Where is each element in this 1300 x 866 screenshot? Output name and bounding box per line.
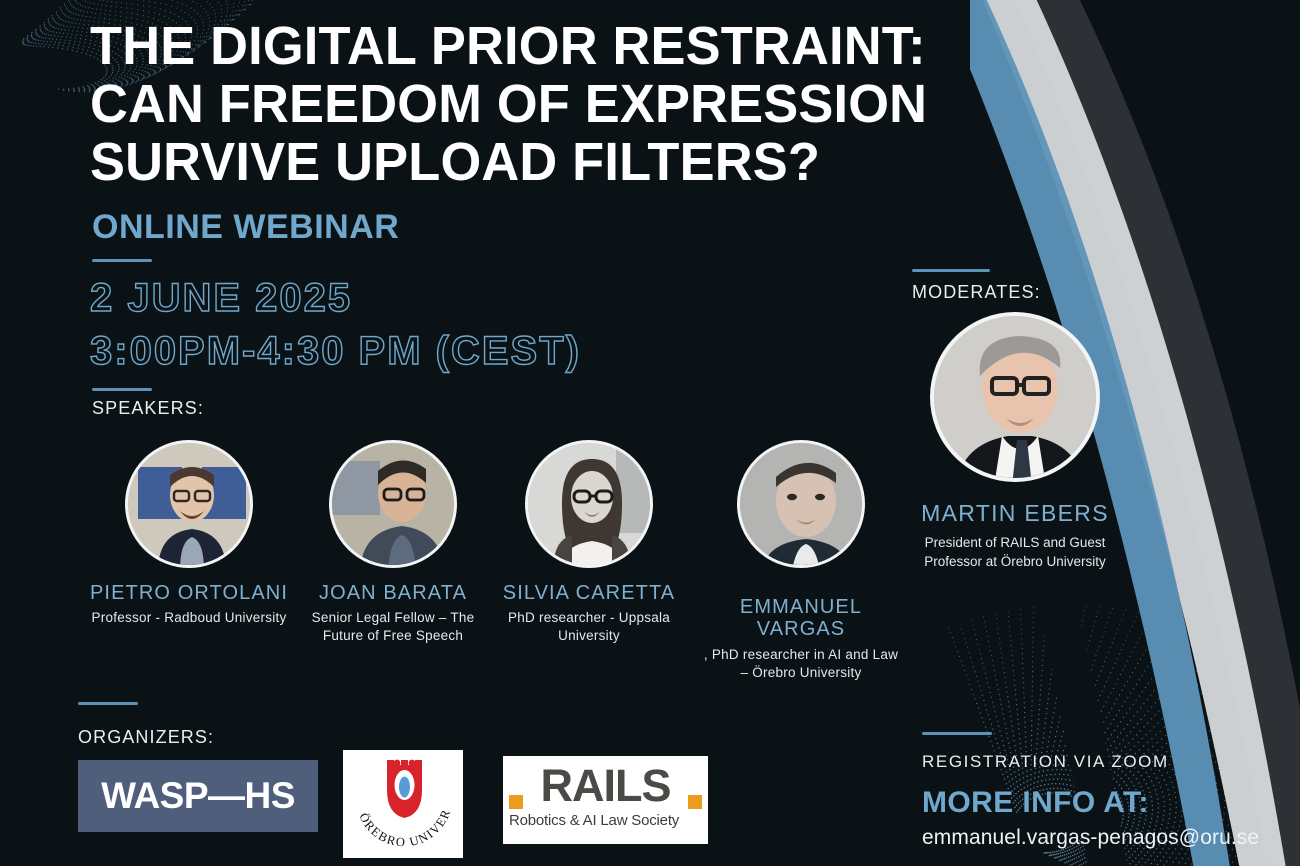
moderates-label: MODERATES:	[912, 282, 1041, 303]
divider-speakers	[92, 388, 152, 391]
divider-subtitle	[92, 259, 152, 262]
speaker-card: PIETRO ORTOLANI Professor - Radboud Univ…	[86, 440, 292, 627]
title-line-2: CAN FREEDOM OF EXPRESSION	[90, 76, 1060, 134]
avatar	[737, 440, 865, 568]
speakers-label: SPEAKERS:	[92, 398, 204, 419]
registration-block: REGISTRATION VIA ZOOM MORE INFO AT: emma…	[922, 752, 1300, 850]
speaker-role: Professor - Radboud University	[86, 609, 292, 627]
rails-word: RAILS	[509, 761, 702, 811]
poster-title: THE DIGITAL PRIOR RESTRAINT: CAN FREEDOM…	[90, 18, 1060, 191]
poster-subtitle: ONLINE WEBINAR	[92, 208, 399, 247]
logo-orebro-universitet: ÖREBRO UNIVERSITET	[343, 750, 463, 858]
event-time: 3:00PM-4:30 PM (CEST)	[90, 325, 581, 378]
logo-wasp-hs: WASP—HS	[78, 760, 318, 832]
avatar	[329, 440, 457, 568]
avatar	[930, 312, 1100, 482]
rails-accent-square-left	[509, 795, 523, 809]
webinar-poster: THE DIGITAL PRIOR RESTRAINT: CAN FREEDOM…	[0, 0, 1300, 866]
logo-wasp-hs-text: WASP—HS	[101, 775, 295, 817]
speaker-name: JOAN BARATA	[290, 582, 496, 604]
moderator-name: MARTIN EBERS	[912, 500, 1118, 527]
speaker-role: , PhD researcher in AI and Law – Örebro …	[698, 646, 904, 682]
divider-organizers	[78, 702, 138, 705]
registration-label: REGISTRATION VIA ZOOM	[922, 752, 1300, 772]
more-info-label: MORE INFO AT:	[922, 786, 1300, 820]
portrait-martin-ebers	[934, 316, 1100, 482]
portrait-pietro-ortolani	[128, 443, 253, 568]
divider-registration	[922, 732, 992, 735]
speaker-card: SILVIA CARETTA PhD researcher - Uppsala …	[486, 440, 692, 645]
organizers-label: ORGANIZERS:	[78, 727, 214, 748]
rails-accent-square-right	[688, 795, 702, 809]
moderator-role: President of RAILS and Guest Professor a…	[912, 534, 1118, 571]
speaker-name: SILVIA CARETTA	[486, 582, 692, 604]
moderator-card: MARTIN EBERS President of RAILS and Gues…	[912, 312, 1118, 571]
title-line-3: SURVIVE UPLOAD FILTERS?	[90, 134, 1060, 192]
event-datetime: 2 JUNE 2025 3:00PM-4:30 PM (CEST)	[90, 272, 581, 378]
logo-rails: RAILS Robotics & AI Law Society	[503, 756, 708, 844]
speaker-card: EMMANUEL VARGAS , PhD researcher in AI a…	[698, 440, 904, 681]
portrait-silvia-caretta	[528, 443, 653, 568]
contact-email[interactable]: emmanuel.vargas-penagos@oru.se	[922, 826, 1300, 850]
speaker-role: Senior Legal Fellow – The Future of Free…	[290, 609, 496, 645]
speaker-role: PhD researcher - Uppsala University	[486, 609, 692, 645]
speakers-list: PIETRO ORTOLANI Professor - Radboud Univ…	[92, 440, 922, 680]
speaker-name: EMMANUEL VARGAS	[698, 596, 904, 641]
portrait-emmanuel-vargas	[740, 443, 865, 568]
speaker-card: JOAN BARATA Senior Legal Fellow – The Fu…	[290, 440, 496, 645]
rails-wordmark: RAILS	[509, 761, 702, 811]
rails-tagline: Robotics & AI Law Society	[509, 812, 702, 829]
event-date: 2 JUNE 2025	[90, 272, 581, 325]
avatar	[525, 440, 653, 568]
speaker-name: PIETRO ORTOLANI	[86, 582, 292, 604]
avatar	[125, 440, 253, 568]
divider-moderates	[912, 269, 990, 272]
title-line-1: THE DIGITAL PRIOR RESTRAINT:	[90, 18, 1060, 76]
portrait-joan-barata	[332, 443, 457, 568]
